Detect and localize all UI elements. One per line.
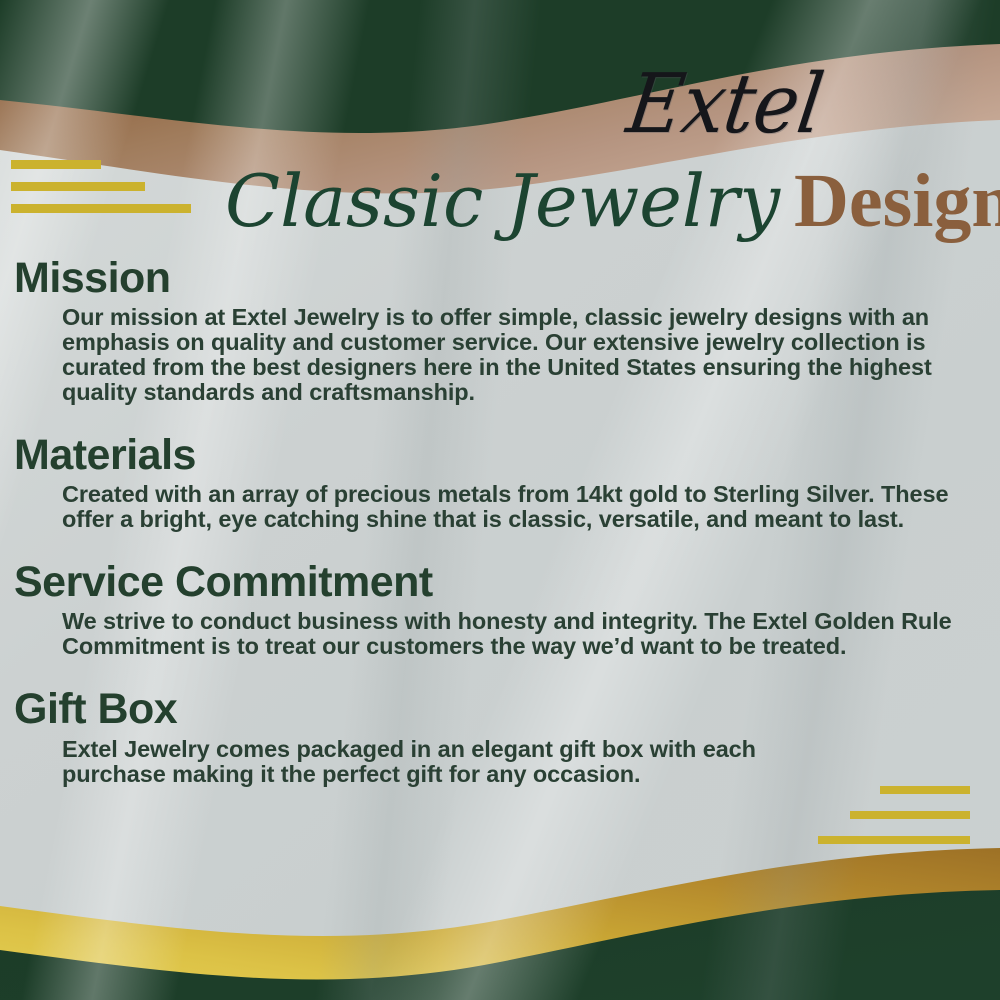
section-title-service-commitment: Service Commitment <box>14 560 1000 605</box>
page-title: Classic JewelryDesign <box>225 158 1000 245</box>
section-title-mission: Mission <box>14 256 1000 301</box>
poster-canvas: Extel Classic JewelryDesign Mission Our … <box>0 0 1000 1000</box>
poster-content: Extel Classic JewelryDesign Mission Our … <box>0 0 1000 1000</box>
section-materials: Materials Created with an array of preci… <box>0 433 1000 532</box>
gold-rule-left-1 <box>11 160 101 169</box>
section-gift-box: Gift Box Extel Jewelry comes packaged in… <box>0 687 1000 786</box>
section-body-mission: Our mission at Extel Jewelry is to offer… <box>62 305 970 405</box>
gold-rule-right-1 <box>880 786 970 794</box>
brand-script-logo: Extel <box>594 63 856 145</box>
section-service-commitment: Service Commitment We strive to conduct … <box>0 560 1000 659</box>
section-body-service-commitment: We strive to conduct business with hones… <box>62 609 970 659</box>
section-title-gift-box: Gift Box <box>14 687 1000 732</box>
decorative-gold-rules-left <box>11 160 191 226</box>
section-mission: Mission Our mission at Extel Jewelry is … <box>0 256 1000 405</box>
section-body-materials: Created with an array of precious metals… <box>62 482 970 532</box>
gold-rule-right-3 <box>818 836 970 844</box>
section-title-materials: Materials <box>14 433 1000 478</box>
gold-rule-right-2 <box>850 811 970 819</box>
gold-rule-left-3 <box>11 204 191 213</box>
gold-rule-left-2 <box>11 182 145 191</box>
section-body-gift-box: Extel Jewelry comes packaged in an elega… <box>62 737 760 787</box>
decorative-gold-rules-right <box>818 786 970 861</box>
page-title-primary: Classic Jewelry <box>225 159 780 243</box>
page-title-secondary: Design <box>794 159 1000 243</box>
sections-list: Mission Our mission at Extel Jewelry is … <box>0 256 1000 787</box>
